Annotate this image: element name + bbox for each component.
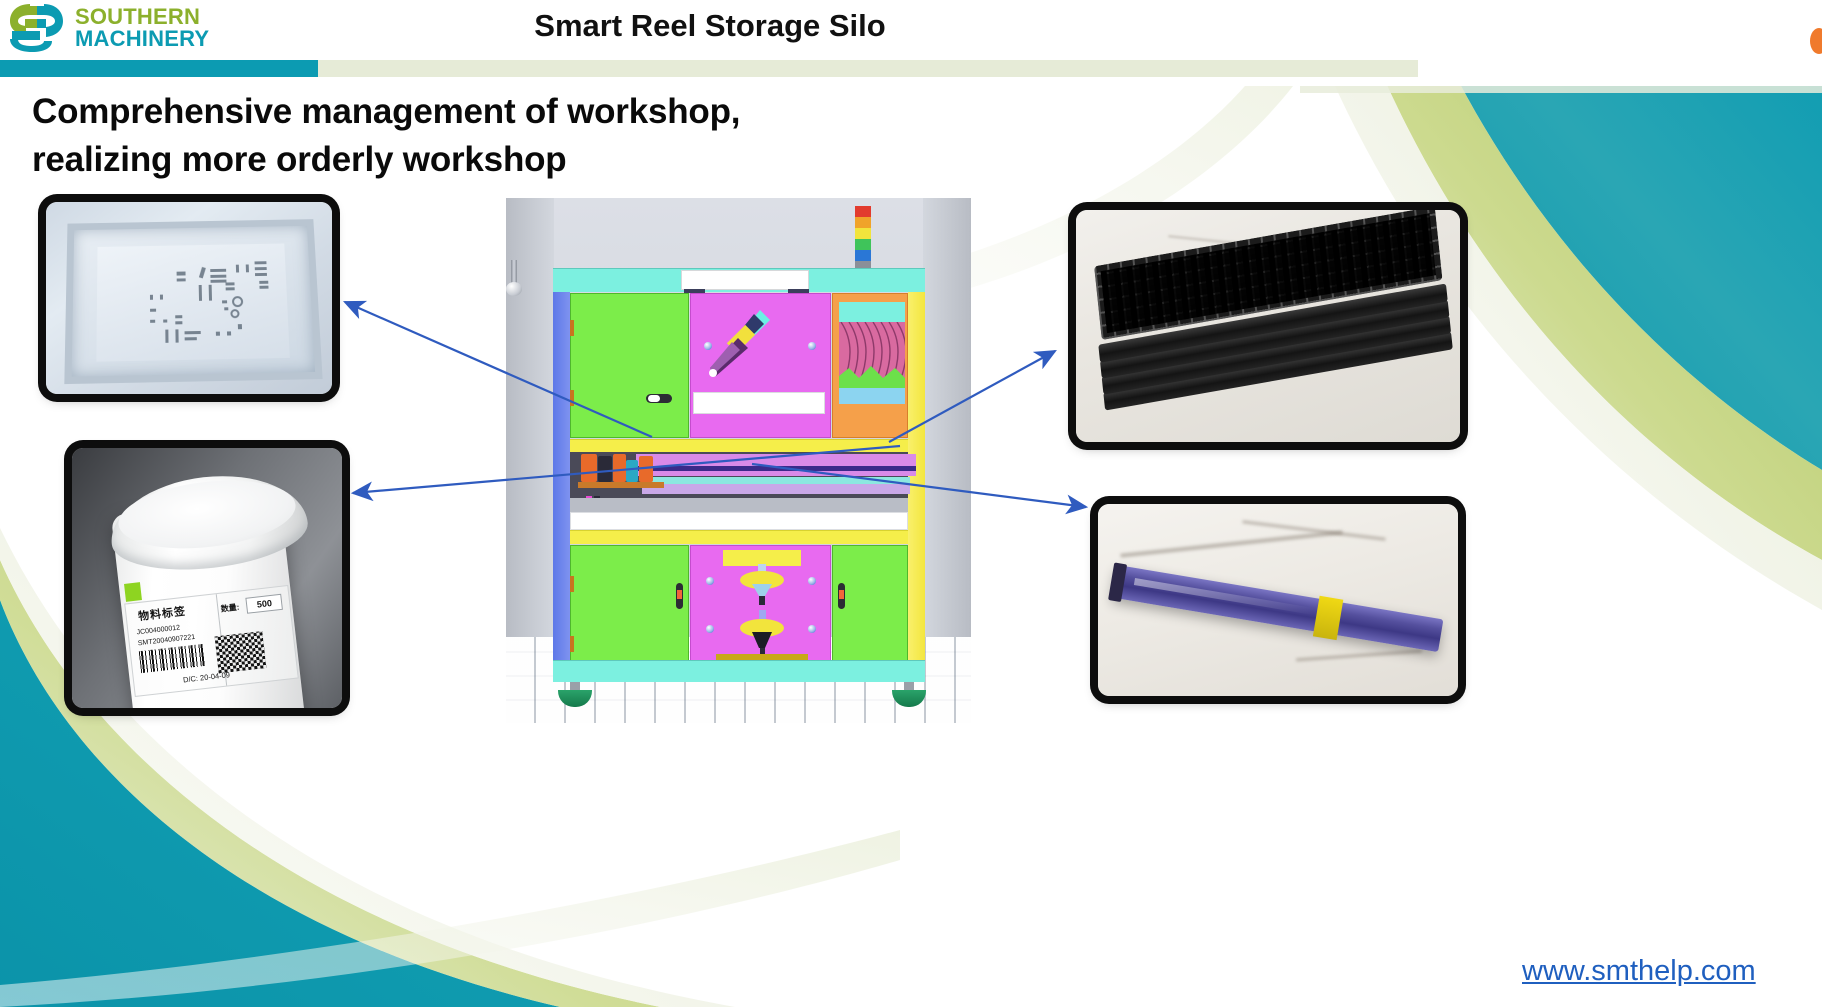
reel-spool-4 [626,460,638,482]
pick-head-graphic [732,564,792,656]
screw-upper-left [704,342,712,350]
upper-door-left-green[interactable] [570,293,689,438]
hinge-upper-left-1 [570,320,574,336]
signal-tower-light [855,206,871,268]
lower-door-left-green[interactable] [570,545,689,661]
upper-left-door-handle[interactable] [646,394,672,403]
shelf-upper [570,439,908,452]
cabinet-post-left [553,292,570,660]
header-accent-rule-teal [0,60,318,77]
reel-spool-1 [581,454,597,482]
shelf-lower [570,530,908,544]
footer-website-link[interactable]: www.smthelp.com [1522,955,1756,988]
render-wall-right [923,198,971,650]
reel-spool-2 [598,456,612,482]
screw-lower-right-2 [808,625,816,633]
screw-lower-left-2 [706,625,714,633]
slide-canvas: SOUTHERN MACHINERY Smart Reel Storage Si… [0,0,1822,1007]
mid-plate-white [570,512,908,530]
hinge-lower-left-1 [570,576,574,592]
headline-text: Comprehensive management of workshop, re… [32,88,1012,185]
headline-line1: Comprehensive management of workshop, [32,88,1012,136]
mechanism-rail-magenta [636,454,916,476]
label-qty-caption: 数量: [220,601,240,614]
corner-accent-dot-icon [1810,28,1822,54]
jar-material-label: 物料标签 数量: 500 JC004000012 SMT20040907221 … [124,585,298,697]
cabinet-top-panel [681,270,809,290]
label-code-1: JC004000012 [136,624,180,636]
hinge-lower-left-2 [570,636,574,652]
mechanism-rail-dark [636,466,916,471]
smart-reel-storage-silo-render[interactable] [506,198,971,723]
jedec-tray-photo[interactable] [1076,210,1460,442]
screw-lower-right-1 [808,577,816,585]
jar-green-mark [124,582,142,602]
headline-line2: realizing more orderly workshop [32,136,1012,184]
reel-spool-5 [639,456,653,482]
stencil-frame [64,219,322,384]
stencil-foil [96,243,290,361]
mid-plate-grey [570,498,908,512]
cabinet-base-cap [553,660,925,682]
screw-upper-right [808,342,816,350]
label-barcode [138,643,205,672]
lower-right-door-handle[interactable] [838,583,845,609]
screw-lower-left-1 [706,577,714,585]
reel-spool-3 [613,454,626,482]
reel-lower-trim [839,388,905,404]
slide-title: Smart Reel Storage Silo [0,8,1420,44]
label-qr-code [214,631,267,673]
lower-left-door-handle[interactable] [676,583,683,609]
header-accent-rule-pale [318,60,1418,77]
stencil-photo[interactable] [46,202,332,394]
reel-cavity-cap [839,302,905,324]
squeegee-yellow-band [1314,596,1344,640]
label-qty-value: 500 [245,594,282,614]
spool-tray [578,482,664,488]
tower-base-ball [506,282,522,296]
label-title: 物料标签 [137,603,187,624]
label-date-code: D/C: 20-04-09 [182,670,230,684]
upper-center-white-slot [693,392,825,414]
drill-tool-icon [702,306,776,380]
cabinet-post-right [908,292,925,660]
solder-paste-jar-photo[interactable]: 物料标签 数量: 500 JC004000012 SMT20040907221 … [72,448,342,708]
squeegee-photo[interactable] [1098,504,1458,696]
hinge-upper-left-2 [570,390,574,406]
mechanism-rail-lavender [642,484,910,494]
reel-coil-graphic [839,322,905,390]
